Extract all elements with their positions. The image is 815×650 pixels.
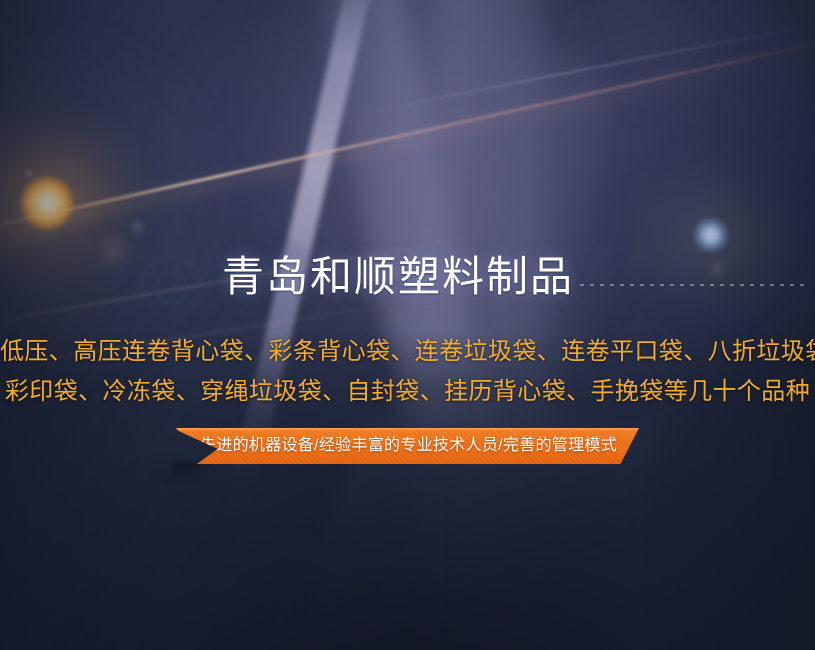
title-row: 青岛和顺塑料制品 <box>0 248 815 306</box>
tagline-text: 先进的机器设备/经验丰富的专业技术人员/完善的管理模式 <box>200 438 617 454</box>
product-list-line-1: 低压、高压连卷背心袋、彩条背心袋、连卷垃圾袋、连卷平口袋、八折垃圾袋、 <box>0 332 815 372</box>
ribbon-drop-shadow <box>165 462 212 484</box>
banner-content: 青岛和顺塑料制品 低压、高压连卷背心袋、彩条背心袋、连卷垃圾袋、连卷平口袋、八折… <box>0 0 815 650</box>
product-list-line-2: 彩印袋、冷冻袋、穿绳垃圾袋、自封袋、挂历背心袋、手挽袋等几十个品种 <box>0 372 815 412</box>
ribbon-wrap: 先进的机器设备/经验丰富的专业技术人员/完善的管理模式 <box>0 428 815 464</box>
product-list: 低压、高压连卷背心袋、彩条背心袋、连卷垃圾袋、连卷平口袋、八折垃圾袋、 彩印袋、… <box>0 332 815 412</box>
promo-banner: 青岛和顺塑料制品 低压、高压连卷背心袋、彩条背心袋、连卷垃圾袋、连卷平口袋、八折… <box>0 0 815 650</box>
page-title: 青岛和顺塑料制品 <box>222 256 574 298</box>
dotted-line-icon <box>580 284 804 286</box>
tagline-ribbon: 先进的机器设备/经验丰富的专业技术人员/完善的管理模式 <box>176 428 639 464</box>
